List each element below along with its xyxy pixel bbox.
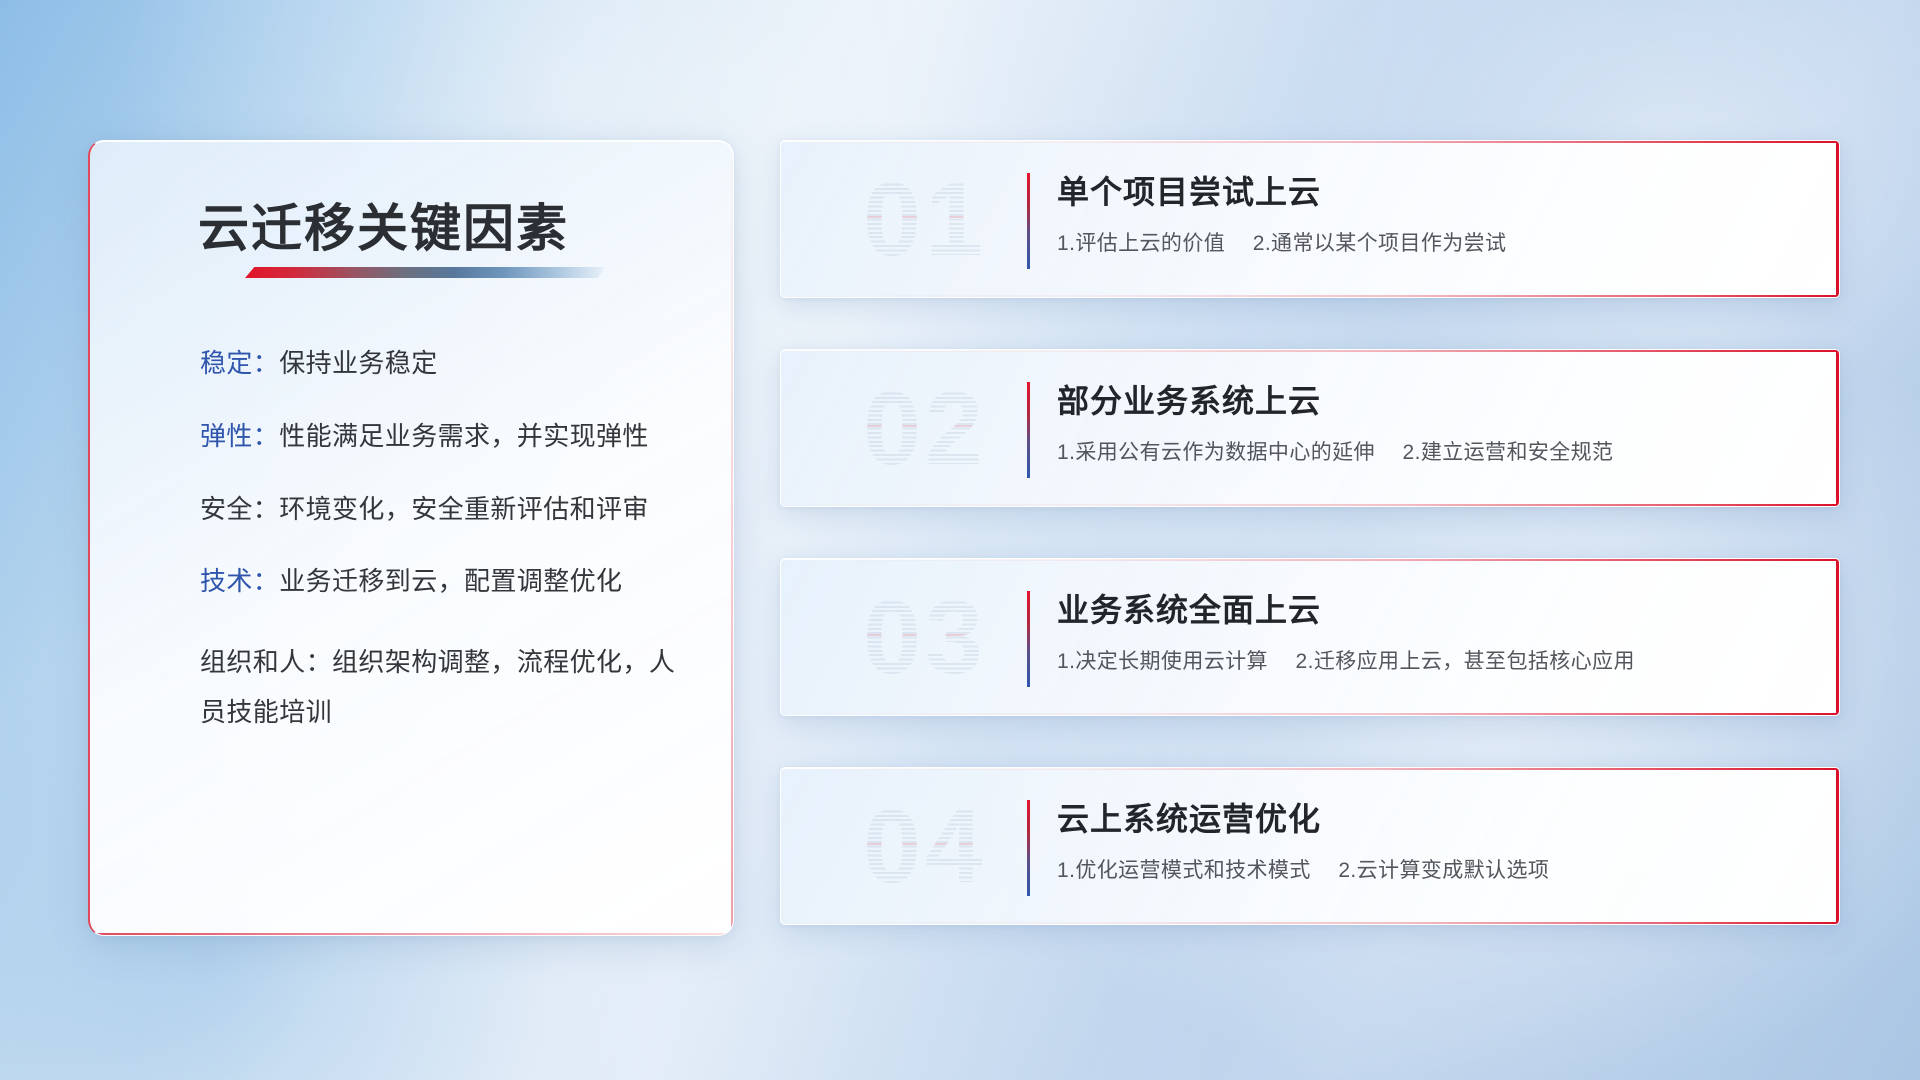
stage-card[interactable]: 04 04 云上系统运营优化 1.优化运营模式和技术模式 2.云计算变成默认选项 (780, 767, 1840, 925)
card-edge-top (781, 141, 1839, 143)
key-factors-list: 稳定：保持业务稳定 弹性：性能满足业务需求，并实现弹性 安全：环境变化，安全重新… (200, 347, 700, 738)
card-description: 1.优化运营模式和技术模式 2.云计算变成默认选项 (1057, 854, 1799, 884)
card-title: 单个项目尝试上云 (1057, 167, 1799, 213)
card-edge-bottom (781, 295, 1839, 297)
card-title: 业务系统全面上云 (1057, 585, 1799, 631)
card-divider (1027, 382, 1030, 478)
list-item: 弹性：性能满足业务需求，并实现弹性 (200, 420, 700, 453)
list-item-key: 稳定： (200, 348, 279, 378)
slide-canvas: 云迁移关键因素 稳定：保持业务稳定 弹性：性能满足业务需求，并实现弹性 安全：环… (0, 0, 1920, 1080)
card-description: 1.评估上云的价值 2.通常以某个项目作为尝试 (1057, 227, 1799, 257)
list-item-key: 安全： (200, 494, 279, 524)
card-divider (1027, 173, 1030, 269)
card-edge-top (781, 559, 1839, 561)
stage-card[interactable]: 03 03 业务系统全面上云 1.决定长期使用云计算 2.迁移应用上云，甚至包括… (780, 558, 1840, 716)
stage-card[interactable]: 01 01 单个项目尝试上云 1.评估上云的价值 2.通常以某个项目作为尝试 (780, 140, 1840, 298)
list-item-text: 业务迁移到云，配置调整优化 (279, 566, 622, 596)
panel-accent-bottom (90, 933, 733, 935)
card-number-accent: 01 (825, 157, 1025, 283)
stage-card[interactable]: 02 02 部分业务系统上云 1.采用公有云作为数据中心的延伸 2.建立运营和安… (780, 349, 1840, 507)
card-edge-bottom (781, 504, 1839, 506)
list-item: 安全：环境变化，安全重新评估和评审 (200, 493, 700, 526)
card-edge-bottom (781, 922, 1839, 924)
list-item: 技术：业务迁移到云，配置调整优化 (200, 565, 700, 598)
list-item: 组织和人：组织架构调整，流程优化，人员技能培训 (200, 638, 700, 738)
list-item-key: 技术： (200, 566, 279, 596)
card-edge-right (1836, 350, 1839, 506)
panel-title-underline (245, 267, 605, 278)
card-body: 部分业务系统上云 1.采用公有云作为数据中心的延伸 2.建立运营和安全规范 (1057, 376, 1799, 466)
card-edge-bottom (781, 713, 1839, 715)
card-body: 云上系统运营优化 1.优化运营模式和技术模式 2.云计算变成默认选项 (1057, 794, 1799, 884)
card-number-accent: 03 (825, 575, 1025, 701)
panel-title: 云迁移关键因素 (198, 187, 569, 261)
card-body: 单个项目尝试上云 1.评估上云的价值 2.通常以某个项目作为尝试 (1057, 167, 1799, 257)
list-item-key: 组织和人： (200, 647, 332, 677)
card-divider (1027, 591, 1030, 687)
card-description: 1.决定长期使用云计算 2.迁移应用上云，甚至包括核心应用 (1057, 645, 1799, 675)
key-factors-panel: 云迁移关键因素 稳定：保持业务稳定 弹性：性能满足业务需求，并实现弹性 安全：环… (88, 140, 734, 936)
card-edge-right (1836, 559, 1839, 715)
card-divider (1027, 800, 1030, 896)
list-item-key: 弹性： (200, 421, 279, 451)
card-number-accent: 02 (825, 366, 1025, 492)
card-edge-right (1836, 141, 1839, 297)
card-description: 1.采用公有云作为数据中心的延伸 2.建立运营和安全规范 (1057, 436, 1799, 466)
card-edge-right (1836, 768, 1839, 924)
list-item-text: 环境变化，安全重新评估和评审 (279, 494, 649, 524)
panel-accent-right (731, 141, 733, 935)
card-number-accent: 04 (825, 784, 1025, 910)
card-edge-top (781, 350, 1839, 352)
card-title: 部分业务系统上云 (1057, 376, 1799, 422)
card-title: 云上系统运营优化 (1057, 794, 1799, 840)
list-item: 稳定：保持业务稳定 (200, 347, 700, 380)
list-item-text: 性能满足业务需求，并实现弹性 (279, 421, 649, 451)
card-body: 业务系统全面上云 1.决定长期使用云计算 2.迁移应用上云，甚至包括核心应用 (1057, 585, 1799, 675)
card-edge-top (781, 768, 1839, 770)
list-item-text: 保持业务稳定 (279, 348, 437, 378)
